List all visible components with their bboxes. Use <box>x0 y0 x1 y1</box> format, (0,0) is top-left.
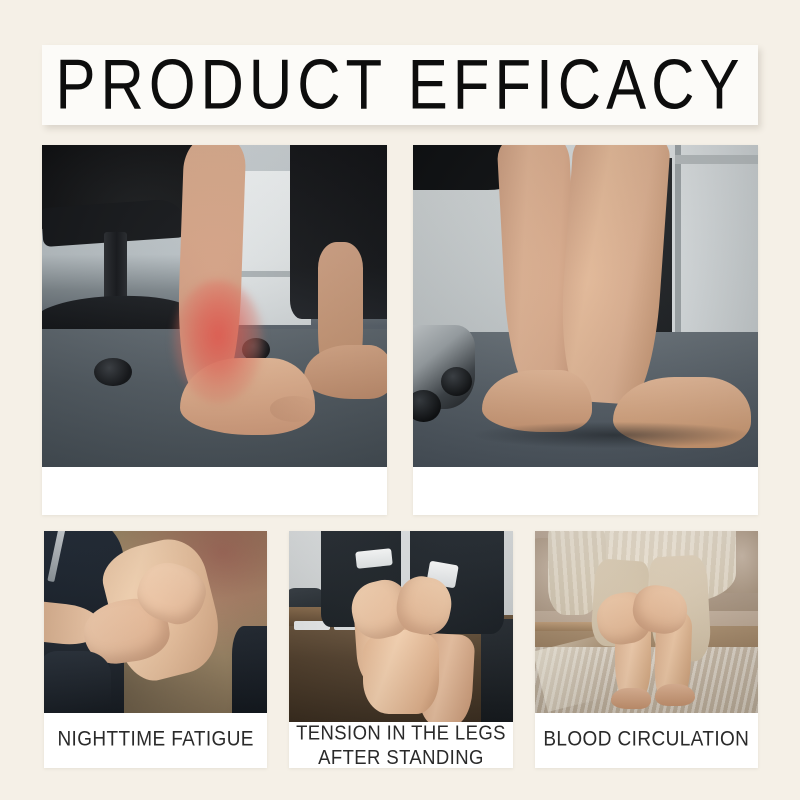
poster-root: PRODUCT EFFICACY <box>0 0 800 800</box>
caption-line-2: AFTER STANDING <box>318 745 484 768</box>
feature-card-tension-in-legs[interactable]: TENSION IN THE LEGS AFTER STANDING <box>289 531 512 768</box>
photo-card-plate <box>42 467 387 515</box>
photo-card-healthy-legs <box>413 145 758 515</box>
feature-card-nighttime-fatigue[interactable]: NIGHTTIME FATIGUE <box>44 531 267 768</box>
photo-card-plate <box>413 467 758 515</box>
caption-line-1: TENSION IN THE LEGS <box>296 721 506 745</box>
feature-caption-blood-circulation: BLOOD CIRCULATION <box>535 710 758 768</box>
feature-row: NIGHTTIME FATIGUE <box>44 531 758 768</box>
photo-calf-massage <box>44 531 267 713</box>
page-title: PRODUCT EFFICACY <box>56 50 745 121</box>
title-banner: PRODUCT EFFICACY <box>42 45 758 125</box>
photo-knee-hold <box>289 531 512 722</box>
inflammation-highlight <box>173 280 263 402</box>
feature-card-blood-circulation[interactable]: BLOOD CIRCULATION <box>535 531 758 768</box>
feature-caption-nighttime-fatigue: NIGHTTIME FATIGUE <box>44 710 267 768</box>
photo-card-swollen-ankle <box>42 145 387 515</box>
photo-healthy-legs <box>413 145 758 467</box>
photo-elderly-leg-hold <box>535 531 758 713</box>
feature-caption-tension-in-legs: TENSION IN THE LEGS AFTER STANDING <box>289 719 512 768</box>
top-photo-row <box>42 145 758 515</box>
photo-swollen-ankle <box>42 145 387 467</box>
